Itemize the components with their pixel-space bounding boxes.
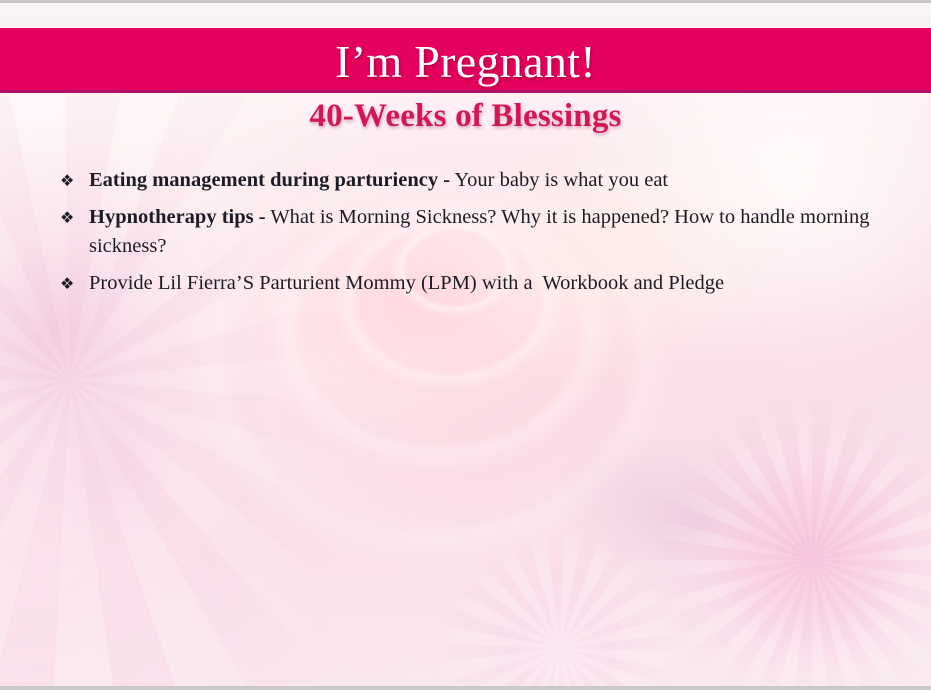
presentation-slide: I’m Pregnant! 40-Weeks of Blessings ❖ Ea… [0, 0, 931, 690]
list-item: ❖ Eating management during parturiency -… [56, 166, 876, 195]
slide-top-border [0, 0, 931, 3]
diamond-bullet-icon: ❖ [56, 203, 89, 232]
slide-bottom-border [0, 686, 931, 690]
bullet-text-1: Eating management during parturiency - Y… [89, 166, 876, 195]
list-item: ❖ Hypnotherapy tips - What is Morning Si… [56, 203, 876, 261]
diamond-bullet-icon: ❖ [56, 269, 89, 298]
list-item: ❖ Provide Lil Fierra’S Parturient Mommy … [56, 269, 876, 298]
bullet-text-2: Hypnotherapy tips - What is Morning Sick… [89, 203, 876, 261]
slide-top-margin [0, 3, 931, 28]
bullet-text-3: Provide Lil Fierra’S Parturient Mommy (L… [89, 269, 876, 298]
slide-subtitle: 40-Weeks of Blessings [0, 98, 931, 134]
diamond-bullet-icon: ❖ [56, 166, 89, 195]
slide-title: I’m Pregnant! [0, 28, 931, 96]
slide-bullet-list: ❖ Eating management during parturiency -… [56, 166, 876, 306]
